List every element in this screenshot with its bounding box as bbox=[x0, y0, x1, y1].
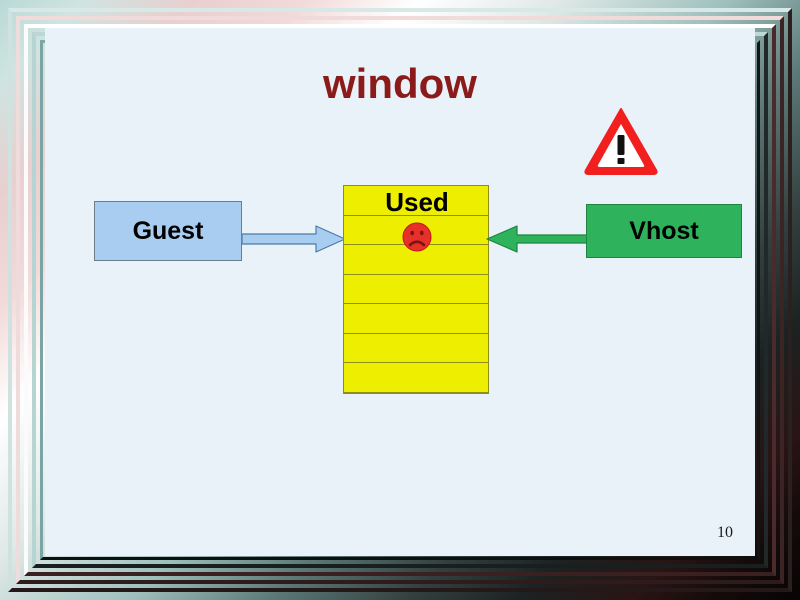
arrow-guest-to-window bbox=[242, 224, 346, 254]
node-guest-label: Guest bbox=[133, 217, 204, 246]
slide-frame: window Guest bbox=[0, 0, 800, 600]
slide-canvas: window Guest bbox=[45, 28, 755, 556]
node-guest: Guest bbox=[94, 201, 242, 261]
node-window-label: Used bbox=[344, 187, 490, 218]
slide-number: 10 bbox=[717, 524, 733, 542]
page-title: window bbox=[45, 60, 755, 108]
node-vhost-label: Vhost bbox=[629, 217, 698, 246]
node-window-buffer: Used bbox=[343, 185, 489, 394]
buffer-row bbox=[344, 304, 488, 334]
sad-face-icon bbox=[402, 222, 432, 252]
warning-triangle-icon bbox=[583, 104, 659, 176]
buffer-row bbox=[344, 275, 488, 305]
arrow-vhost-to-window bbox=[486, 224, 590, 254]
buffer-row bbox=[344, 334, 488, 364]
buffer-row bbox=[344, 363, 488, 393]
node-vhost: Vhost bbox=[586, 204, 742, 258]
